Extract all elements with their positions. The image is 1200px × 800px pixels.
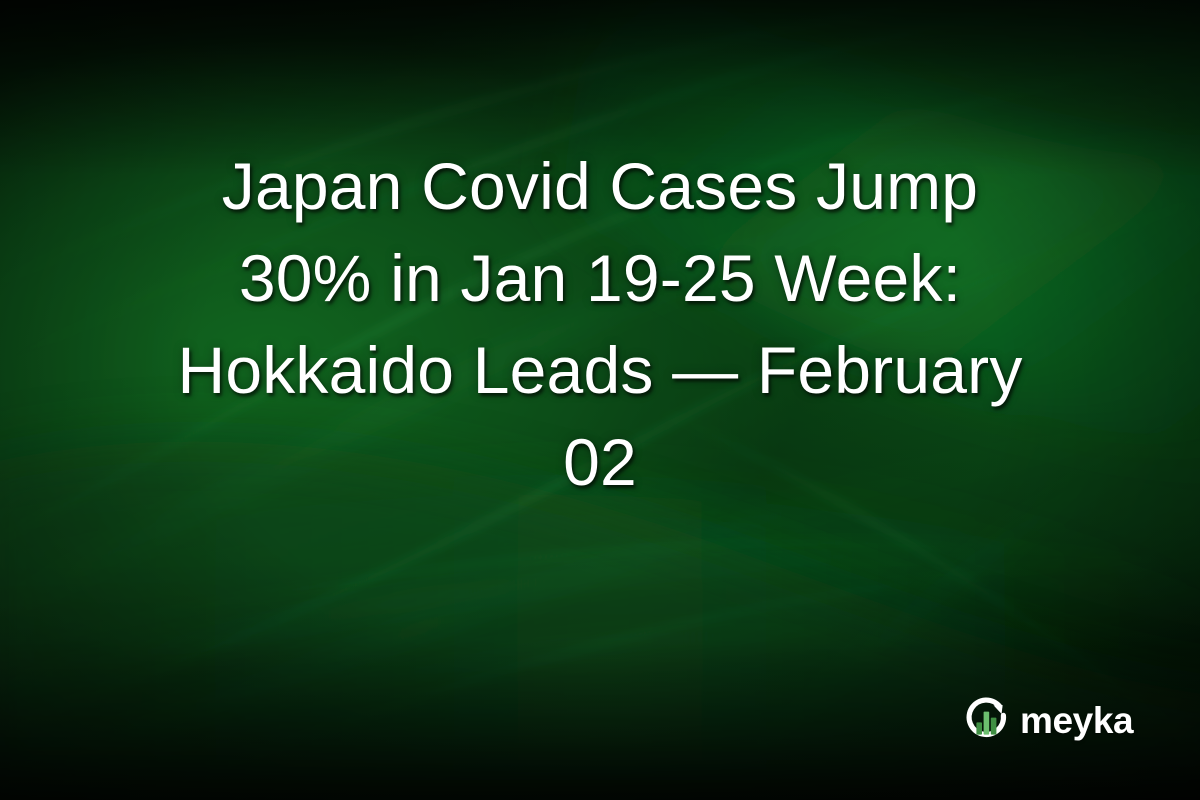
headline-block: Japan Covid Cases Jump 30% in Jan 19-25 …: [60, 140, 1140, 508]
meyka-logo[interactable]: meyka: [963, 694, 1133, 746]
page-title: Japan Covid Cases Jump 30% in Jan 19-25 …: [60, 140, 1140, 508]
meyka-bar-chart-ring-icon: [963, 696, 1011, 744]
logo-wordmark: meyka: [1020, 702, 1133, 739]
news-card: Japan Covid Cases Jump 30% in Jan 19-25 …: [0, 0, 1200, 800]
